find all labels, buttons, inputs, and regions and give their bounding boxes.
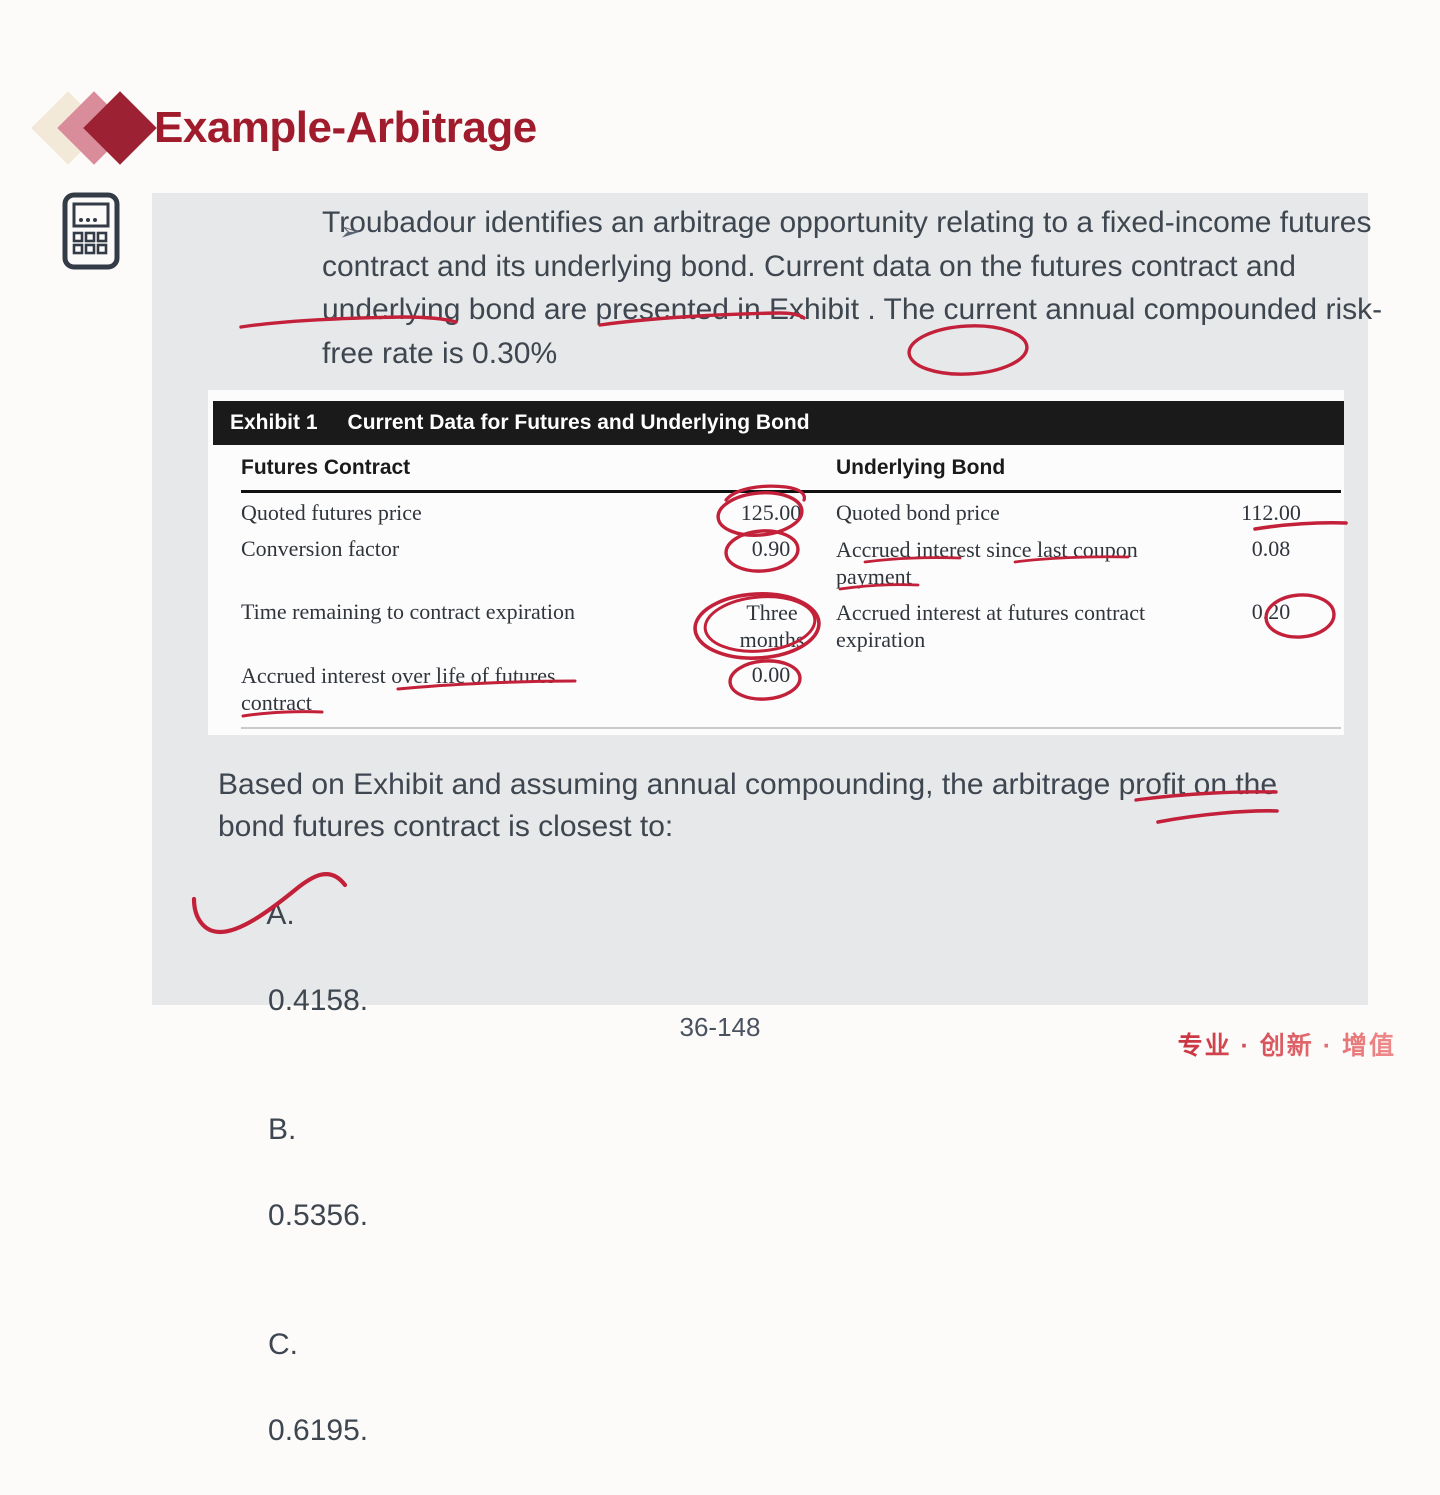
calculator-icon	[62, 192, 120, 270]
table-row: Accrued interest since last coupon payme…	[836, 536, 1176, 590]
brand-slogan: 专业 · 创新 · 增值	[1178, 1026, 1396, 1062]
exhibit-top-rule	[241, 490, 1341, 493]
choice-value: 0.6195.	[268, 1414, 368, 1447]
exhibit-box: Exhibit 1 Current Data for Futures and U…	[208, 390, 1344, 735]
intro-paragraph: ➢ Troubadour identifies an arbitrage opp…	[322, 201, 1422, 375]
exhibit-header-bar: Exhibit 1 Current Data for Futures and U…	[213, 401, 1344, 445]
choice-letter: B.	[268, 1113, 296, 1146]
question-text: Based on Exhibit and assuming annual com…	[218, 764, 1338, 848]
exhibit-number: Exhibit 1	[230, 411, 318, 435]
exhibit-caption: Current Data for Futures and Underlying …	[348, 411, 810, 435]
answer-choices: A. 0.4158. B. 0.5356. C. 0.6195.	[218, 850, 368, 1495]
table-cell-value: 125.00	[716, 500, 826, 526]
table-cell-value: Three months	[726, 599, 818, 653]
table-cell-value: 0.90	[716, 536, 826, 562]
choice-value: 0.5356.	[268, 1199, 368, 1232]
table-row: Conversion factor	[241, 536, 399, 562]
table-row: Accrued interest at futures contract exp…	[836, 599, 1181, 653]
column-header-futures: Futures Contract	[241, 456, 410, 479]
table-cell-value: 112.00	[1216, 500, 1326, 526]
answer-choice-b[interactable]: B. 0.5356.	[218, 1065, 368, 1280]
intro-text: Troubadour identifies an arbitrage oppor…	[322, 206, 1382, 370]
table-row: Accrued interest over life of futures co…	[241, 662, 591, 716]
column-header-bond: Underlying Bond	[836, 456, 1005, 480]
table-row: Quoted bond price	[836, 500, 1000, 526]
table-cell-value: 0.08	[1216, 536, 1326, 562]
choice-letter: C.	[268, 1328, 298, 1361]
exhibit-bottom-rule	[241, 727, 1341, 729]
table-cell-value: 0.00	[716, 662, 826, 688]
arrow-bullet-icon: ➢	[339, 210, 361, 254]
page-title: Example-Arbitrage	[154, 103, 537, 153]
choice-letter: A.	[266, 898, 294, 931]
table-cell-value: 0.20	[1216, 599, 1326, 625]
table-row: Time remaining to contract expiration	[241, 599, 575, 625]
answer-choice-c[interactable]: C. 0.6195.	[218, 1280, 368, 1495]
table-row: Quoted futures price	[241, 500, 422, 526]
slide-root: Example-Arbitrage ➢ Troubadour identifie…	[0, 0, 1440, 1080]
slide-header: Example-Arbitrage	[40, 88, 537, 168]
exhibit-column-headers: Futures Contract Underlying Bond	[241, 456, 1341, 486]
diamond-logo-icon	[40, 90, 140, 166]
